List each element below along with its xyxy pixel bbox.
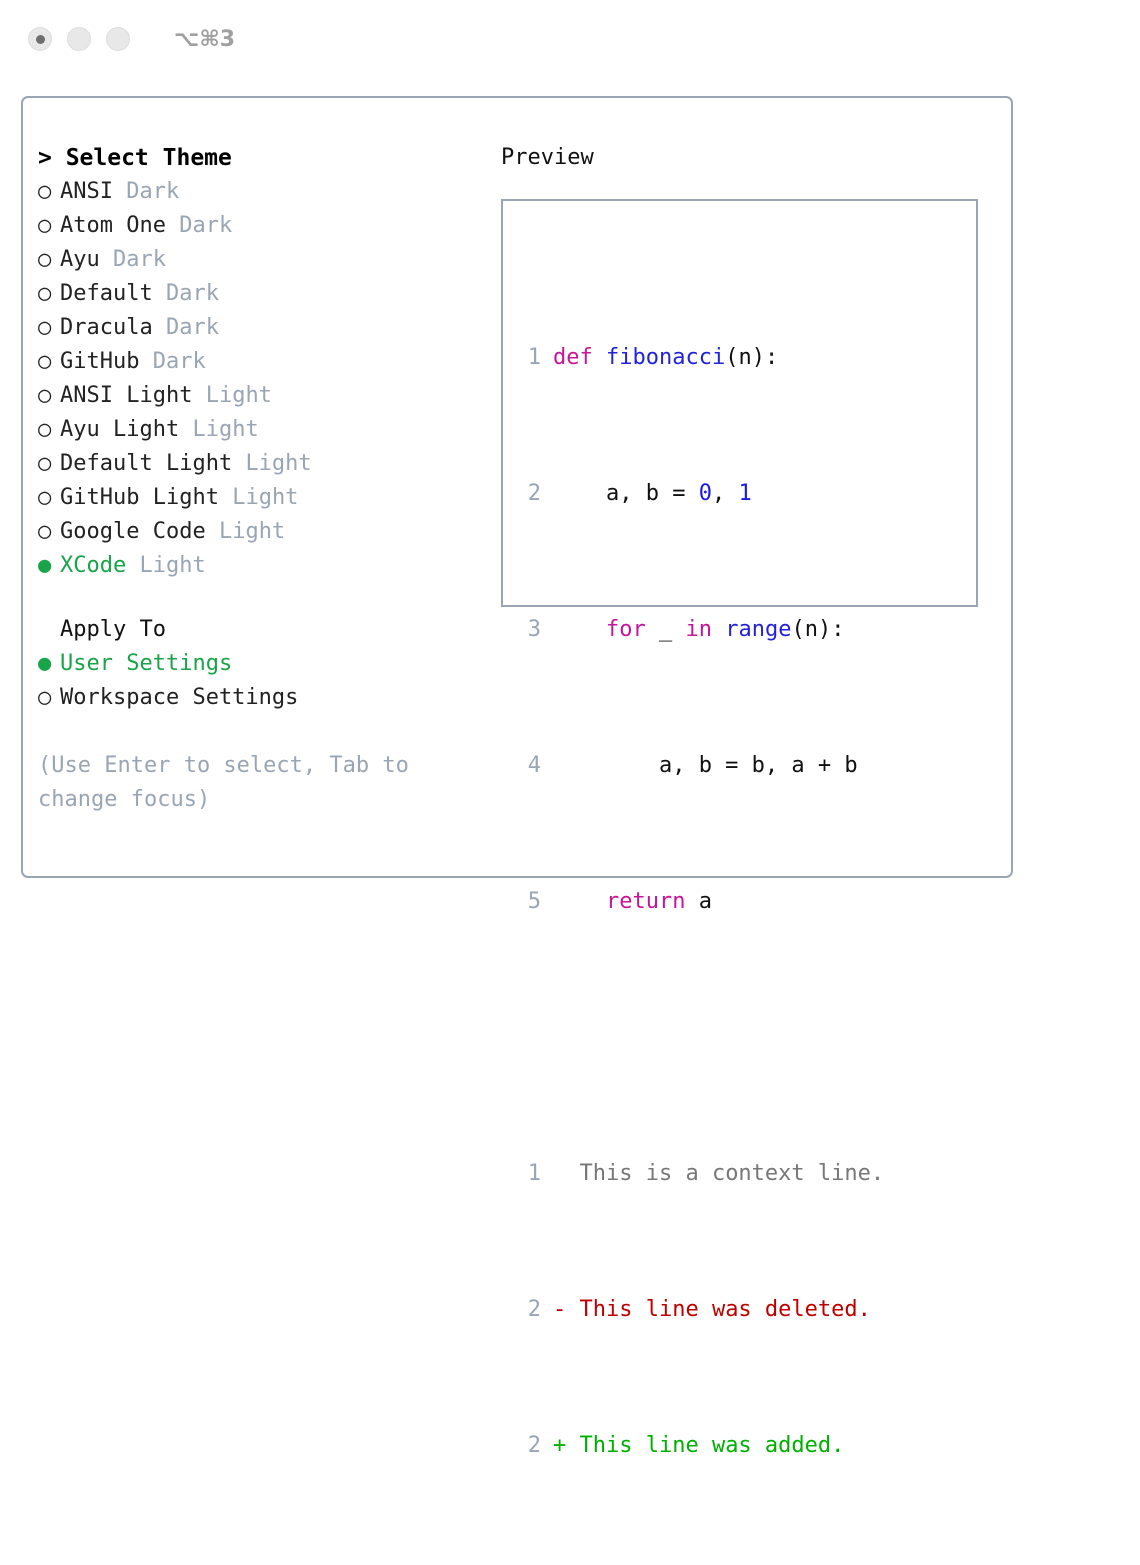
theme-name: ANSI [60, 179, 113, 204]
theme-name: XCode [60, 553, 126, 578]
code-line: 4 a, b = b, a + b [525, 749, 884, 783]
window-dot-third[interactable] [106, 27, 130, 51]
theme-item-ayu-light[interactable]: ○Ayu Light Light [38, 413, 498, 447]
main-panel: > Select Theme ○ANSI Dark ○Atom One Dark… [21, 96, 1013, 878]
theme-name: Default Light [60, 451, 232, 476]
keyboard-hint-text: (Use Enter to select, Tab to change focu… [38, 749, 453, 817]
code-line: 5 return a [525, 885, 884, 919]
apply-to-option-label: Workspace Settings [60, 685, 298, 710]
code-token-function: range [725, 617, 791, 642]
theme-category: Dark [166, 281, 219, 306]
code-token-function: fibonacci [606, 345, 725, 370]
apply-to-option-label: User Settings [60, 651, 232, 676]
theme-category: Light [139, 553, 205, 578]
theme-category: Light [192, 417, 258, 442]
theme-item-default-light[interactable]: ○Default Light Light [38, 447, 498, 481]
window-dot-second[interactable] [67, 27, 91, 51]
theme-category: Dark [113, 247, 166, 272]
radio-icon: ○ [38, 481, 60, 515]
theme-category: Light [232, 485, 298, 510]
theme-item-ayu[interactable]: ○Ayu Dark [38, 243, 498, 277]
theme-item-atom-one[interactable]: ○Atom One Dark [38, 209, 498, 243]
line-number: 4 [525, 749, 541, 783]
theme-name: Ayu Light [60, 417, 179, 442]
diff-marker: + [553, 1433, 566, 1458]
theme-name: Dracula [60, 315, 153, 340]
theme-name: Ayu [60, 247, 100, 272]
code-token-plain: (n): [725, 345, 778, 370]
theme-category: Dark [126, 179, 179, 204]
theme-item-github[interactable]: ○GitHub Dark [38, 345, 498, 379]
theme-name: Default [60, 281, 153, 306]
theme-name: Atom One [60, 213, 166, 238]
radio-icon: ○ [38, 345, 60, 379]
select-theme-heading: > Select Theme [38, 141, 498, 175]
theme-name: ANSI Light [60, 383, 192, 408]
code-token-plain: a, b = b, a + b [553, 753, 858, 778]
radio-icon: ○ [38, 175, 60, 209]
window-controls [28, 27, 130, 51]
theme-item-github-light[interactable]: ○GitHub Light Light [38, 481, 498, 515]
theme-category: Light [206, 383, 272, 408]
radio-icon: ○ [38, 277, 60, 311]
code-token-number: 0 [699, 481, 712, 506]
apply-to-user-settings[interactable]: ●User Settings [38, 647, 498, 681]
theme-name: GitHub Light [60, 485, 219, 510]
line-number: 2 [525, 477, 541, 511]
code-token-keyword: in [685, 617, 712, 642]
window-dot-active[interactable] [28, 27, 52, 51]
diff-text: This is a context line. [566, 1161, 884, 1186]
window-dot-active-inner [36, 35, 45, 44]
diff-marker [553, 1161, 566, 1186]
preview-heading: Preview [501, 141, 1001, 175]
theme-item-google-code[interactable]: ○Google Code Light [38, 515, 498, 549]
line-number: 2 [525, 1293, 541, 1327]
theme-picker-column: > Select Theme ○ANSI Dark ○Atom One Dark… [38, 141, 498, 817]
theme-category: Dark [179, 213, 232, 238]
code-sample: 1def fibonacci(n): 2 a, b = 0, 1 3 for _… [525, 239, 884, 1565]
code-token-plain: a, b = [553, 481, 699, 506]
radio-icon: ○ [38, 681, 60, 715]
code-diff-separator [525, 1021, 884, 1055]
section-spacer [38, 583, 498, 613]
hint-spacer [38, 715, 498, 749]
code-token-plain [553, 617, 606, 642]
diff-line-deleted: 2- This line was deleted. [525, 1293, 884, 1327]
code-token-number: 1 [738, 481, 751, 506]
line-number: 1 [525, 1157, 541, 1191]
radio-icon: ○ [38, 413, 60, 447]
code-line: 2 a, b = 0, 1 [525, 477, 884, 511]
code-token-plain: , [712, 481, 739, 506]
radio-icon: ○ [38, 311, 60, 345]
radio-selected-icon: ● [38, 549, 60, 583]
diff-text: This line was deleted. [566, 1297, 871, 1322]
diff-text: This line was added. [566, 1433, 844, 1458]
code-token-plain: a [685, 889, 712, 914]
line-number: 1 [525, 341, 541, 375]
theme-category: Light [245, 451, 311, 476]
theme-item-ansi[interactable]: ○ANSI Dark [38, 175, 498, 209]
theme-item-dracula[interactable]: ○Dracula Dark [38, 311, 498, 345]
theme-category: Dark [166, 315, 219, 340]
diff-marker: - [553, 1297, 566, 1322]
code-token-keyword: for [606, 617, 646, 642]
line-number: 3 [525, 613, 541, 647]
preview-box: 1def fibonacci(n): 2 a, b = 0, 1 3 for _… [501, 199, 978, 607]
theme-item-ansi-light[interactable]: ○ANSI Light Light [38, 379, 498, 413]
diff-line-context: 1 This is a context line. [525, 1157, 884, 1191]
keyboard-shortcut-label: ⌥⌘3 [174, 27, 235, 52]
diff-line-added: 2+ This line was added. [525, 1429, 884, 1463]
theme-item-xcode[interactable]: ●XCode Light [38, 549, 498, 583]
code-token-plain: _ [646, 617, 686, 642]
theme-name: GitHub [60, 349, 139, 374]
radio-selected-icon: ● [38, 647, 60, 681]
panel-columns: > Select Theme ○ANSI Dark ○Atom One Dark… [23, 98, 1011, 876]
code-line: 1def fibonacci(n): [525, 341, 884, 375]
code-token-plain [553, 889, 606, 914]
radio-icon: ○ [38, 447, 60, 481]
line-number: 5 [525, 885, 541, 919]
radio-icon: ○ [38, 515, 60, 549]
code-token-plain: (n): [791, 617, 844, 642]
window-titlebar: ⌥⌘3 [0, 0, 1140, 78]
radio-icon: ○ [38, 209, 60, 243]
apply-to-workspace-settings[interactable]: ○Workspace Settings [38, 681, 498, 715]
theme-category: Dark [153, 349, 206, 374]
preview-column: Preview 1def fibonacci(n): 2 a, b = 0, 1… [501, 141, 1001, 607]
code-token-keyword: return [606, 889, 685, 914]
code-token-plain [712, 617, 725, 642]
theme-name: Google Code [60, 519, 206, 544]
line-number: 2 [525, 1429, 541, 1463]
radio-icon: ○ [38, 379, 60, 413]
radio-icon: ○ [38, 243, 60, 277]
code-line: 3 for _ in range(n): [525, 613, 884, 647]
apply-to-title: Apply To [38, 613, 498, 647]
theme-category: Light [219, 519, 285, 544]
theme-item-default[interactable]: ○Default Dark [38, 277, 498, 311]
code-token-keyword: def [553, 345, 606, 370]
